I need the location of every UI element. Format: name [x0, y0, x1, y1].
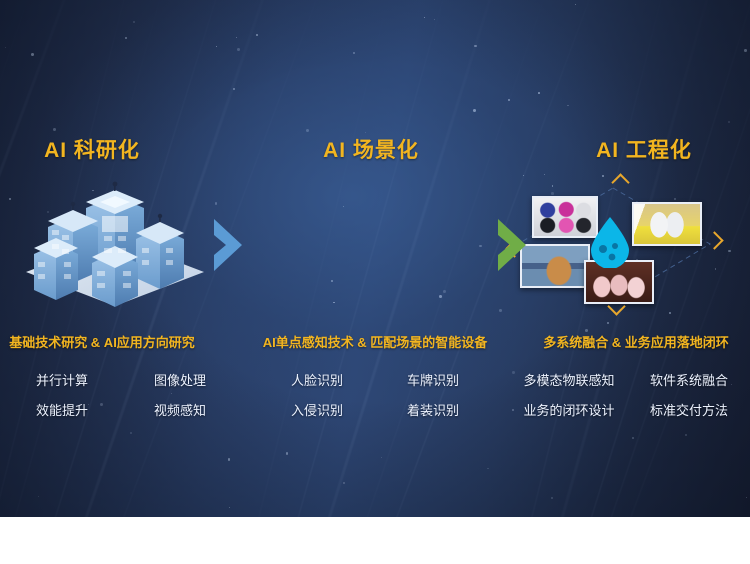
stage-subtitle-research: 基础技术研究 & AI应用方向研究 — [0, 332, 250, 351]
stage-heading-research: AI 科研化 — [0, 134, 250, 164]
stage-column-scenario: AI 场景化 AI单点感知技术 & 匹配场景的智能设备 — [250, 0, 500, 517]
bottom-white-band — [0, 517, 750, 564]
list-item: 车牌识别 — [407, 370, 459, 389]
list-item: 标准交付方法 — [650, 400, 728, 419]
stage-items-research: 并行计算 图像处理 效能提升 视频感知 — [0, 370, 250, 419]
list-item: 视频感知 — [154, 400, 206, 419]
stage-heading-engineering: AI 工程化 — [500, 134, 750, 164]
stage-items-scenario: 人脸识别 车牌识别 入侵识别 着装识别 — [250, 370, 500, 419]
stage-column-engineering: AI 工程化 — [500, 0, 750, 517]
list-item: 人脸识别 — [291, 370, 343, 389]
list-item: 图像处理 — [154, 370, 206, 389]
list-item: 着装识别 — [407, 400, 459, 419]
slide-canvas: AI 科研化 — [0, 0, 750, 564]
list-item: 并行计算 — [36, 370, 88, 389]
arrow-stage-1-to-2 — [208, 215, 254, 275]
list-item: 多模态物联感知 — [523, 370, 614, 389]
list-item: 业务的闭环设计 — [523, 400, 614, 419]
stage-heading-scenario: AI 场景化 — [250, 134, 500, 164]
stage-subtitle-engineering: 多系统融合 & 业务应用落地闭环 — [500, 332, 750, 351]
stage-items-engineering: 多模态物联感知 软件系统融合 业务的闭环设计 标准交付方法 — [500, 370, 750, 419]
list-item: 软件系统融合 — [650, 370, 728, 389]
stage-subtitle-scenario: AI单点感知技术 & 匹配场景的智能设备 — [250, 332, 500, 351]
isometric-city-servers-icon — [18, 168, 213, 308]
list-item: 入侵识别 — [291, 400, 343, 419]
list-item: 效能提升 — [36, 400, 88, 419]
